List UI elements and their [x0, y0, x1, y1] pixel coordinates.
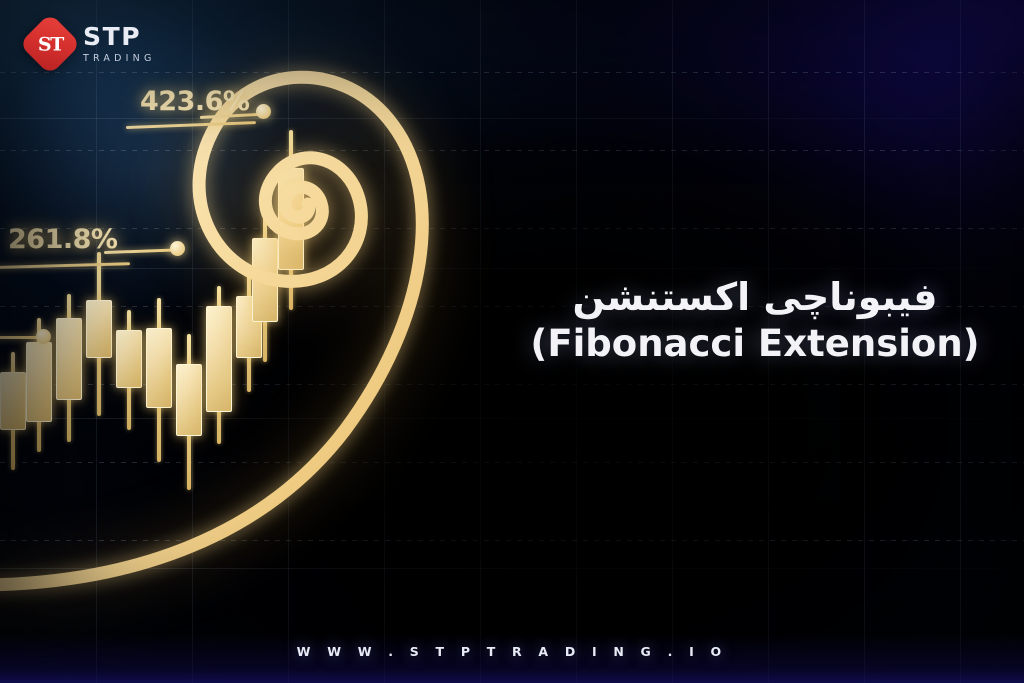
title-persian: فیبوناچی اکستنشن: [520, 275, 990, 320]
fib-level-261-8-dot: [170, 241, 185, 256]
footer-website-url[interactable]: W W W . S T P T R A D I N G . I O: [0, 644, 1024, 659]
title-english: (Fibonacci Extension): [520, 322, 990, 366]
brand-tagline-label: TRADING: [83, 54, 156, 64]
brand-logo-text: STP TRADING: [83, 24, 156, 64]
stp-diamond-icon: ST: [19, 13, 81, 75]
fib-level-423-6-dot: [256, 104, 271, 119]
promo-banner: 423.6% 261.8% ST STP TRADING فیبوناچی اک…: [0, 0, 1024, 683]
fib-anchor-dot: [36, 329, 51, 344]
brand-name-label: STP: [83, 24, 156, 49]
fib-level-261-8-label: 261.8%: [8, 224, 117, 255]
title-block: فیبوناچی اکستنشن (Fibonacci Extension): [520, 275, 990, 366]
fib-level-423-6-label: 423.6%: [140, 86, 249, 117]
brand-logo[interactable]: ST STP TRADING: [28, 22, 156, 66]
stp-monogram-label: ST: [38, 33, 63, 55]
